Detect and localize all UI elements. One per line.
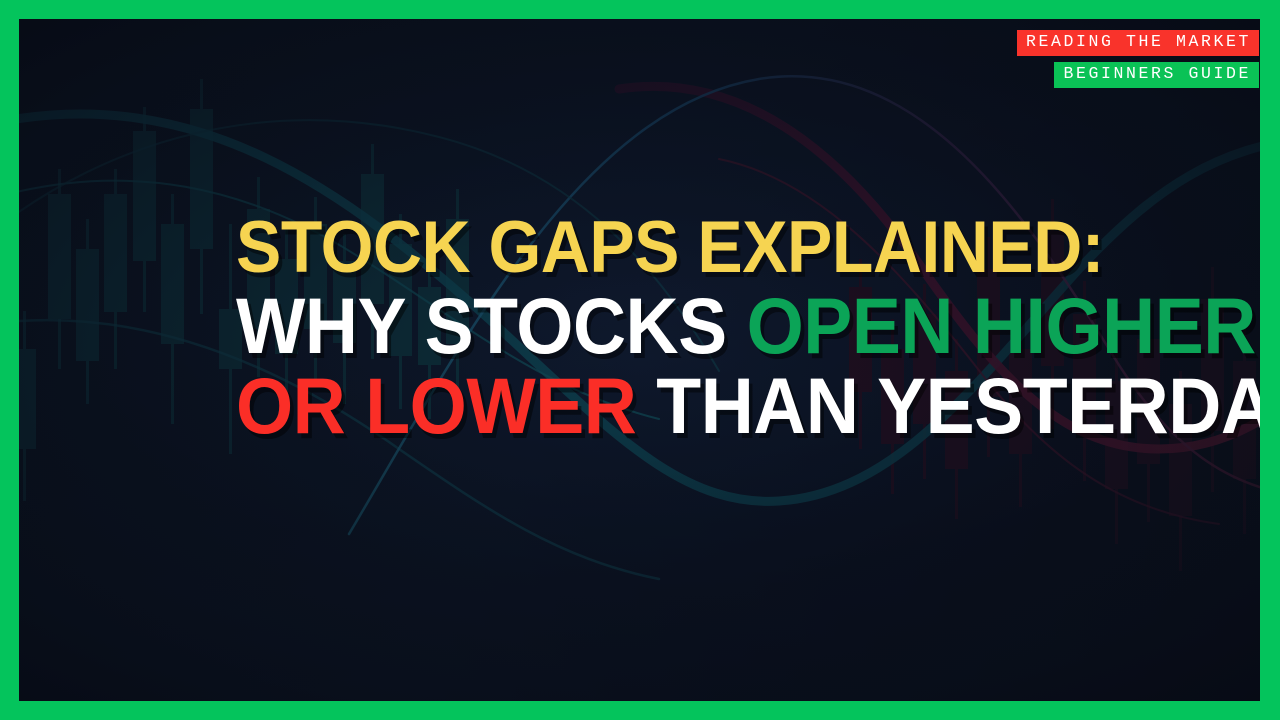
headline-line-1: STOCK GAPS EXPLAINED:	[236, 217, 1008, 280]
headline-line-3-text: THAN YESTERDAY	[636, 361, 1260, 450]
headline-line-2: WHY STOCKS OPEN HIGHER	[236, 292, 1008, 360]
badge-reading-the-market[interactable]: READING THE MARKET	[1017, 30, 1259, 56]
thumbnail-canvas: READING THE MARKET BEGINNERS GUIDE STOCK…	[0, 0, 1280, 720]
badge-beginners-guide[interactable]: BEGINNERS GUIDE	[1054, 62, 1259, 88]
headline-accent-or-lower: OR LOWER	[236, 361, 636, 450]
headline-line-2-text: WHY STOCKS	[236, 281, 747, 370]
thumbnail-stage: READING THE MARKET BEGINNERS GUIDE STOCK…	[19, 19, 1260, 701]
headline-accent-open-higher: OPEN HIGHER	[747, 281, 1256, 370]
headline-block: STOCK GAPS EXPLAINED: WHY STOCKS OPEN HI…	[236, 217, 1066, 440]
headline-line-3: OR LOWER THAN YESTERDAY	[236, 372, 1008, 440]
badge-stack: READING THE MARKET BEGINNERS GUIDE	[1017, 30, 1259, 88]
